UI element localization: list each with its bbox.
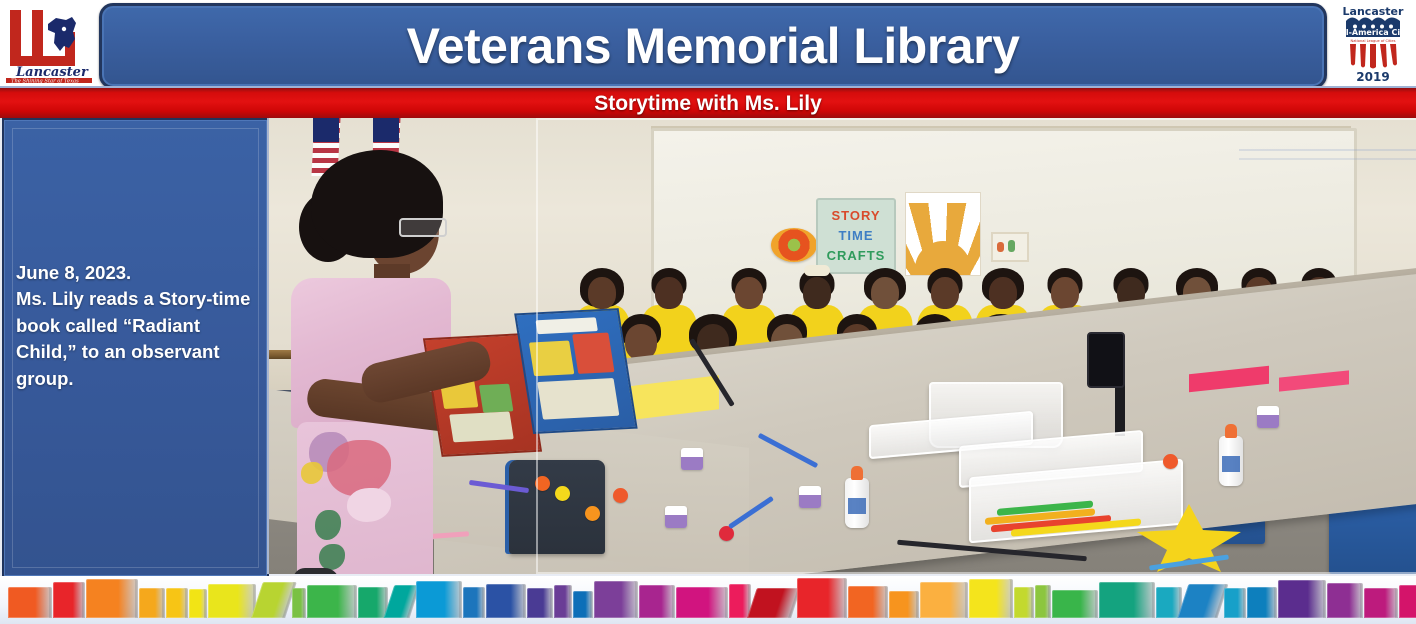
book-spine <box>889 591 919 618</box>
main-content: June 8, 2023. Ms. Lily reads a Story-tim… <box>0 118 1416 576</box>
all-america-city-logo: Lancaster All-America City National Leag… <box>1332 1 1414 85</box>
pom-pom <box>1163 454 1178 469</box>
pom-pom <box>585 506 600 521</box>
book-spine <box>139 588 165 618</box>
aac-top-text: Lancaster <box>1343 5 1404 18</box>
book-spine <box>639 585 675 618</box>
pencil <box>758 433 819 468</box>
caption-body: Ms. Lily reads a Story-time book called … <box>16 286 261 392</box>
caption-panel: June 8, 2023. Ms. Lily reads a Story-tim… <box>2 118 269 578</box>
long-black-marker <box>897 540 1087 562</box>
book-spine <box>166 588 188 618</box>
glue-bottle-left <box>845 478 869 528</box>
aac-year: 2019 <box>1356 70 1389 84</box>
book-spine <box>527 588 553 618</box>
book-spine <box>1177 584 1228 618</box>
book-spine <box>463 587 485 618</box>
book-right-page <box>514 308 638 434</box>
library-title-plaque: Veterans Memorial Library <box>99 3 1327 89</box>
book-spine <box>594 581 638 618</box>
subtitle-banner: Storytime with Ms. Lily <box>0 86 1416 120</box>
book-spine <box>1278 580 1326 618</box>
slide-canvas: Lancaster The Shining Star of Texas Vete… <box>0 0 1416 624</box>
subtitle-text: Storytime with Ms. Lily <box>594 92 822 116</box>
book-spine <box>486 584 526 618</box>
book-spine <box>1247 587 1277 618</box>
book-spine <box>969 579 1013 618</box>
storytime-photo: STORY TIME CRAFTS <box>267 118 1416 574</box>
glitter-jar-three <box>665 506 687 528</box>
glitter-jar-one <box>681 448 703 470</box>
book-spine <box>53 582 85 618</box>
glitter-jar-four <box>1257 406 1279 428</box>
book-spine <box>1224 588 1246 618</box>
glue-bottle-right <box>1219 436 1243 486</box>
pom-pom <box>613 488 628 503</box>
pink-paper-2 <box>1279 370 1349 391</box>
pom-pom <box>555 486 570 501</box>
book-spine <box>1364 588 1398 618</box>
book-spine <box>1099 582 1155 618</box>
book-spine <box>1052 590 1098 618</box>
storytime-reader <box>279 140 509 574</box>
page-header: Lancaster The Shining Star of Texas Vete… <box>0 0 1416 86</box>
pom-pom <box>535 476 550 491</box>
book-spine <box>747 588 801 618</box>
book-spine <box>251 582 297 618</box>
book-spine <box>189 589 207 618</box>
book-spine <box>358 587 388 618</box>
reader-hair <box>311 150 443 258</box>
logo-tagline: The Shining Star of Texas <box>11 79 79 85</box>
aac-sub-text: National League of Cities <box>1351 39 1396 43</box>
pink-paper <box>1189 366 1269 392</box>
book-spine <box>1014 587 1034 618</box>
book-spine <box>208 584 256 618</box>
book-spine <box>384 585 421 618</box>
rainbow-book-spines <box>0 576 1416 624</box>
pencil-2 <box>728 496 774 529</box>
book-spine <box>920 582 968 618</box>
book-spine <box>573 591 593 618</box>
aac-banner-text: All-America City <box>1337 28 1410 37</box>
hair-bow <box>804 265 830 276</box>
book-spine <box>1327 583 1363 618</box>
glitter-jar-two <box>799 486 821 508</box>
page-title: Veterans Memorial Library <box>407 21 1020 71</box>
book-spine <box>307 585 357 618</box>
book-spine <box>797 578 847 618</box>
caption-date: June 8, 2023. <box>16 260 261 286</box>
lancaster-city-logo: Lancaster The Shining Star of Texas <box>2 2 96 84</box>
book-spine <box>848 586 888 618</box>
book-spine <box>86 579 138 618</box>
book-spine <box>676 587 728 618</box>
book-spine <box>416 581 462 618</box>
reader-glasses <box>399 218 447 237</box>
book-spine <box>8 587 52 618</box>
book-spine <box>1035 585 1051 618</box>
phone-on-tripod <box>1087 332 1125 388</box>
book-spine <box>1399 585 1416 618</box>
book-spine <box>292 588 306 618</box>
book-spine <box>554 585 572 618</box>
caption-text: June 8, 2023. Ms. Lily reads a Story-tim… <box>16 260 261 392</box>
